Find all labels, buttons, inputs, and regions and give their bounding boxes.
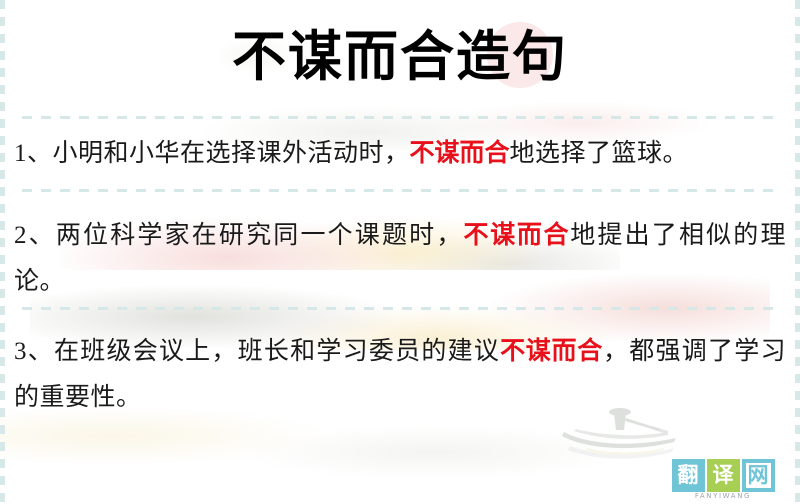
site-logo[interactable]: 翻 译 网 FANYIWANG bbox=[660, 456, 786, 500]
sentence-2-text-before: 两位科学家在研究同一个课题时， bbox=[56, 222, 464, 249]
divider-after-sentence-1 bbox=[22, 189, 778, 192]
logo-box-yi: 译 bbox=[707, 459, 740, 492]
sentence-3-keyword: 不谋而合 bbox=[500, 336, 603, 365]
list-item-sentence-3: 3、在班级会议上，班长和学习委员的建议不谋而合，都强调了学习的重要性。 bbox=[14, 328, 786, 421]
sentence-3-number: 3、 bbox=[14, 338, 54, 365]
list-item-sentence-1: 1、小明和小华在选择课外活动时，不谋而合地选择了篮球。 bbox=[14, 130, 786, 177]
sentence-1-keyword: 不谋而合 bbox=[410, 138, 510, 167]
sentence-1-text-after: 地选择了篮球。 bbox=[510, 140, 689, 167]
page-title: 不谋而合造句 bbox=[232, 29, 568, 83]
sentence-3-text-before: 在班级会议上，班长和学习委员的建议 bbox=[54, 338, 500, 365]
sentence-2-keyword: 不谋而合 bbox=[464, 220, 571, 249]
right-dashed-border bbox=[795, 0, 800, 504]
sentence-1-number: 1、 bbox=[14, 140, 53, 167]
divider-top bbox=[22, 116, 778, 119]
divider-after-sentence-2 bbox=[22, 307, 778, 310]
list-item-sentence-2: 2、两位科学家在研究同一个课题时，不谋而合地提出了相似的理论。 bbox=[14, 212, 786, 305]
sentence-1-text-before: 小明和小华在选择课外活动时， bbox=[53, 140, 410, 167]
left-dashed-border bbox=[0, 0, 5, 504]
logo-box-wang: 网 bbox=[742, 459, 775, 492]
title-band: 不谋而合造句 bbox=[0, 10, 800, 102]
logo-box-fan: 翻 bbox=[672, 459, 705, 492]
poster-page: 不谋而合造句 1、小明和小华在选择课外活动时，不谋而合地选择了篮球。 2、两位科… bbox=[0, 0, 800, 504]
logo-glyph-group: 翻 译 网 bbox=[672, 459, 775, 492]
logo-subtitle: FANYIWANG bbox=[695, 493, 751, 500]
sentence-2-number: 2、 bbox=[14, 222, 56, 249]
